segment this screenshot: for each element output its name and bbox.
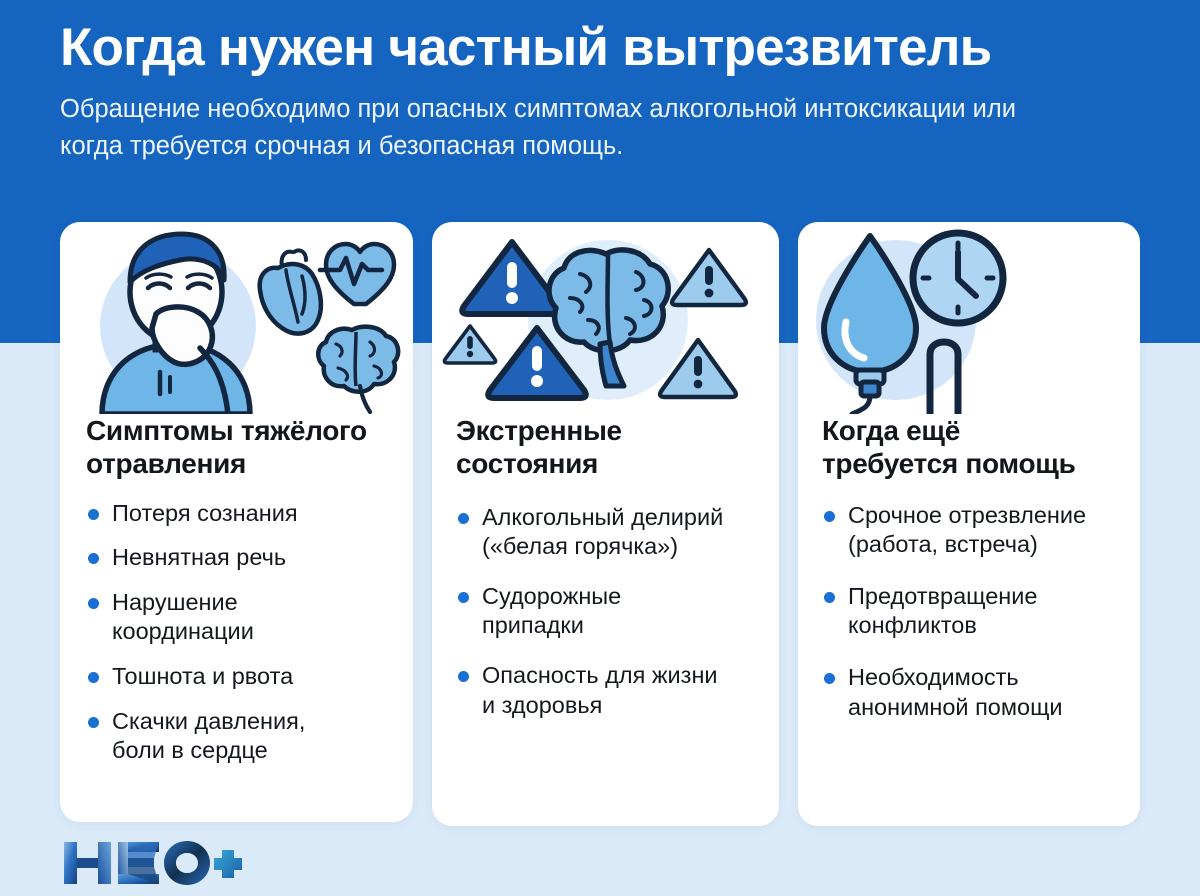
nauseated-person-heart-brain-illustration: [60, 222, 413, 414]
neo-plus-logo-icon: [62, 838, 242, 888]
cards-row: Симптомы тяжёлого отравления Потеря созн…: [60, 222, 1140, 826]
card-body: Когда ещё требуется помощь Срочное отрез…: [798, 414, 1140, 826]
emergency-list: Алкогольный делирий («белая горячка») Су…: [456, 503, 765, 721]
card-heading: Симптомы тяжёлого отравления: [86, 414, 391, 481]
list-item: Необходимость анонимной помощи: [822, 663, 1128, 722]
list-item: Потеря сознания: [86, 499, 391, 529]
list-item: Нарушение координации: [86, 588, 391, 647]
list-item: Судорожные припадки: [456, 582, 765, 641]
brand-logo: [62, 838, 242, 888]
list-item: Срочное отрезвление (работа, встреча): [822, 501, 1128, 560]
card-heading: Когда ещё требуется помощь: [822, 414, 1128, 481]
list-item: Тошнота и рвота: [86, 662, 391, 692]
brain-warning-triangles-illustration: [432, 222, 779, 414]
list-item: Предотвращение конфликтов: [822, 582, 1128, 641]
list-item: Опасность для жизни и здоровья: [456, 661, 765, 720]
card-body: Экстренные состояния Алкогольный делирий…: [432, 414, 779, 826]
symptom-list: Потеря сознания Невнятная речь Нарушение…: [86, 499, 391, 766]
card-when-else-help-needed: Когда ещё требуется помощь Срочное отрез…: [798, 222, 1140, 826]
list-item: Невнятная речь: [86, 543, 391, 573]
card-severe-poisoning: Симптомы тяжёлого отравления Потеря созн…: [60, 222, 413, 822]
help-reasons-list: Срочное отрезвление (работа, встреча) Пр…: [822, 501, 1128, 723]
list-item: Скачки давления, боли в сердце: [86, 707, 391, 766]
card-heading: Экстренные состояния: [456, 414, 765, 481]
page-title: Когда нужен частный вытрезвитель: [60, 18, 1144, 77]
list-item: Алкогольный делирий («белая горячка»): [456, 503, 765, 562]
header-text-block: Когда нужен частный вытрезвитель Обращен…: [0, 0, 1200, 164]
iv-drip-clock-illustration: [798, 222, 1140, 414]
card-emergency-states: Экстренные состояния Алкогольный делирий…: [432, 222, 779, 826]
page-subtitle: Обращение необходимо при опасных симптом…: [60, 91, 1080, 163]
card-body: Симптомы тяжёлого отравления Потеря созн…: [60, 414, 413, 822]
